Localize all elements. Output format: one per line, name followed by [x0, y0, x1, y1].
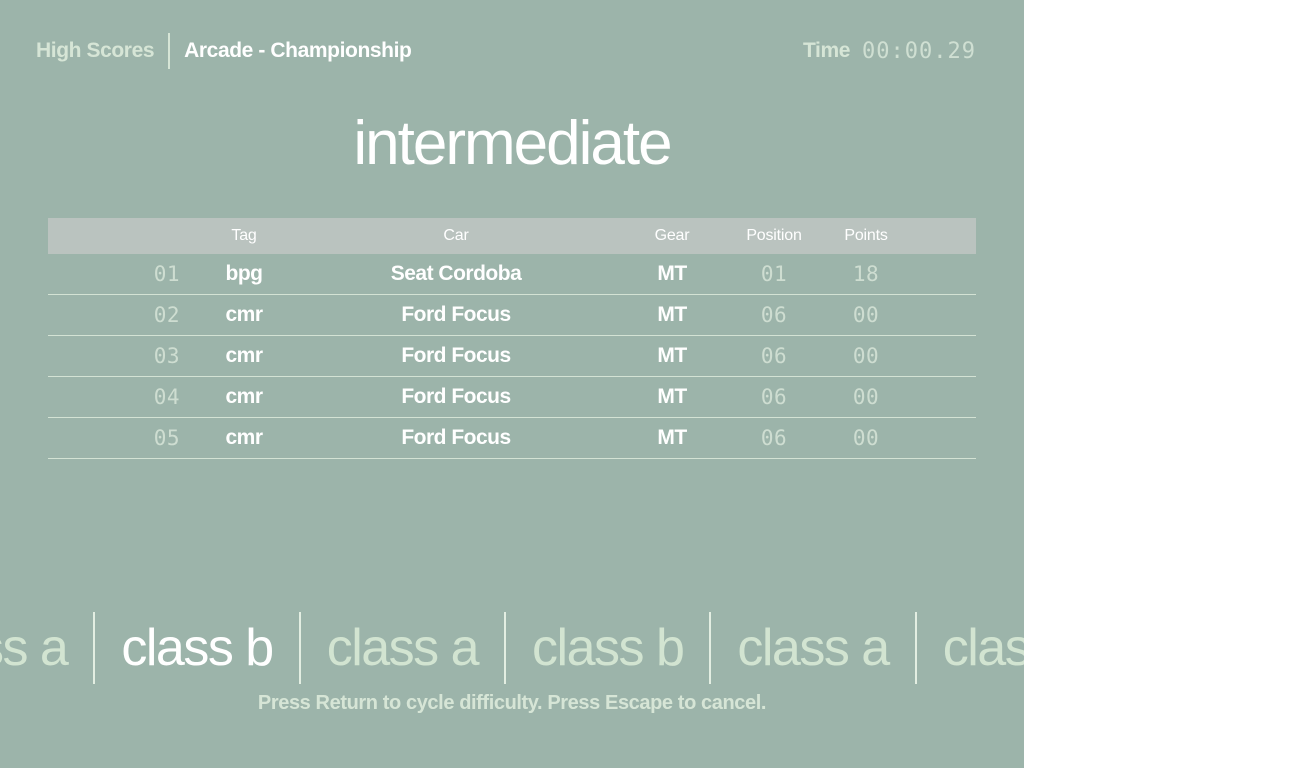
cell-car: Ford Focus [296, 303, 616, 327]
difficulty-title: intermediate [0, 108, 1024, 180]
cell-points: 00 [820, 344, 912, 368]
game-viewport: High Scores Arcade - Championship Time 0… [0, 0, 1024, 768]
time-label: Time [803, 39, 850, 63]
cell-rank: 04 [48, 385, 192, 409]
cell-rank: 03 [48, 344, 192, 368]
time-value: 00:00.29 [862, 39, 976, 64]
time-display: Time 00:00.29 [803, 30, 976, 72]
carousel-item[interactable]: class a [711, 616, 914, 680]
carousel-item[interactable]: class b [506, 616, 709, 680]
cell-position: 01 [728, 262, 820, 286]
cell-tag: cmr [192, 344, 296, 368]
carousel-item[interactable]: class b [917, 616, 1024, 680]
table-row: 04cmrFord FocusMT0600 [48, 377, 976, 418]
cell-tag: cmr [192, 426, 296, 450]
cell-points: 00 [820, 426, 912, 450]
footer-hint: Press Return to cycle difficulty. Press … [0, 692, 1024, 715]
cell-points: 00 [820, 303, 912, 327]
cell-car: Ford Focus [296, 344, 616, 368]
cell-car: Ford Focus [296, 385, 616, 409]
cell-gear: MT [616, 385, 728, 409]
table-row: 01bpgSeat CordobaMT0118 [48, 254, 976, 295]
class-carousel[interactable]: class aclass bclass aclass bclass aclass… [0, 602, 1024, 694]
carousel-track: class aclass bclass aclass bclass aclass… [0, 612, 1024, 684]
cell-position: 06 [728, 303, 820, 327]
breadcrumb-divider [168, 33, 170, 69]
cell-gear: MT [616, 262, 728, 286]
column-header-tag: Tag [192, 227, 296, 245]
cell-points: 00 [820, 385, 912, 409]
carousel-item-selected[interactable]: class b [95, 616, 298, 680]
table-row: 02cmrFord FocusMT0600 [48, 295, 976, 336]
table-row: 03cmrFord FocusMT0600 [48, 336, 976, 377]
cell-rank: 01 [48, 262, 192, 286]
cell-position: 06 [728, 426, 820, 450]
mode-label: Arcade - Championship [184, 39, 411, 63]
carousel-item[interactable]: class a [301, 616, 504, 680]
top-bar: High Scores Arcade - Championship Time 0… [0, 30, 1024, 72]
cell-rank: 05 [48, 426, 192, 450]
cell-points: 18 [820, 262, 912, 286]
cell-tag: cmr [192, 385, 296, 409]
column-header-points: Points [820, 227, 912, 245]
column-header-car: Car [296, 227, 616, 245]
high-scores-table: Tag Car Gear Position Points 01bpgSeat C… [48, 218, 976, 459]
cell-tag: bpg [192, 262, 296, 286]
cell-position: 06 [728, 385, 820, 409]
column-header-gear: Gear [616, 227, 728, 245]
cell-gear: MT [616, 303, 728, 327]
table-row: 05cmrFord FocusMT0600 [48, 418, 976, 459]
cell-car: Seat Cordoba [296, 262, 616, 286]
column-header-position: Position [728, 227, 820, 245]
cell-position: 06 [728, 344, 820, 368]
cell-tag: cmr [192, 303, 296, 327]
table-body: 01bpgSeat CordobaMT011802cmrFord FocusMT… [48, 254, 976, 459]
cell-gear: MT [616, 426, 728, 450]
cell-gear: MT [616, 344, 728, 368]
high-scores-label: High Scores [36, 39, 154, 63]
cell-car: Ford Focus [296, 426, 616, 450]
high-scores-breadcrumb: High Scores Arcade - Championship [36, 30, 411, 72]
table-header-row: Tag Car Gear Position Points [48, 218, 976, 254]
cell-rank: 02 [48, 303, 192, 327]
carousel-item[interactable]: class a [0, 616, 93, 680]
